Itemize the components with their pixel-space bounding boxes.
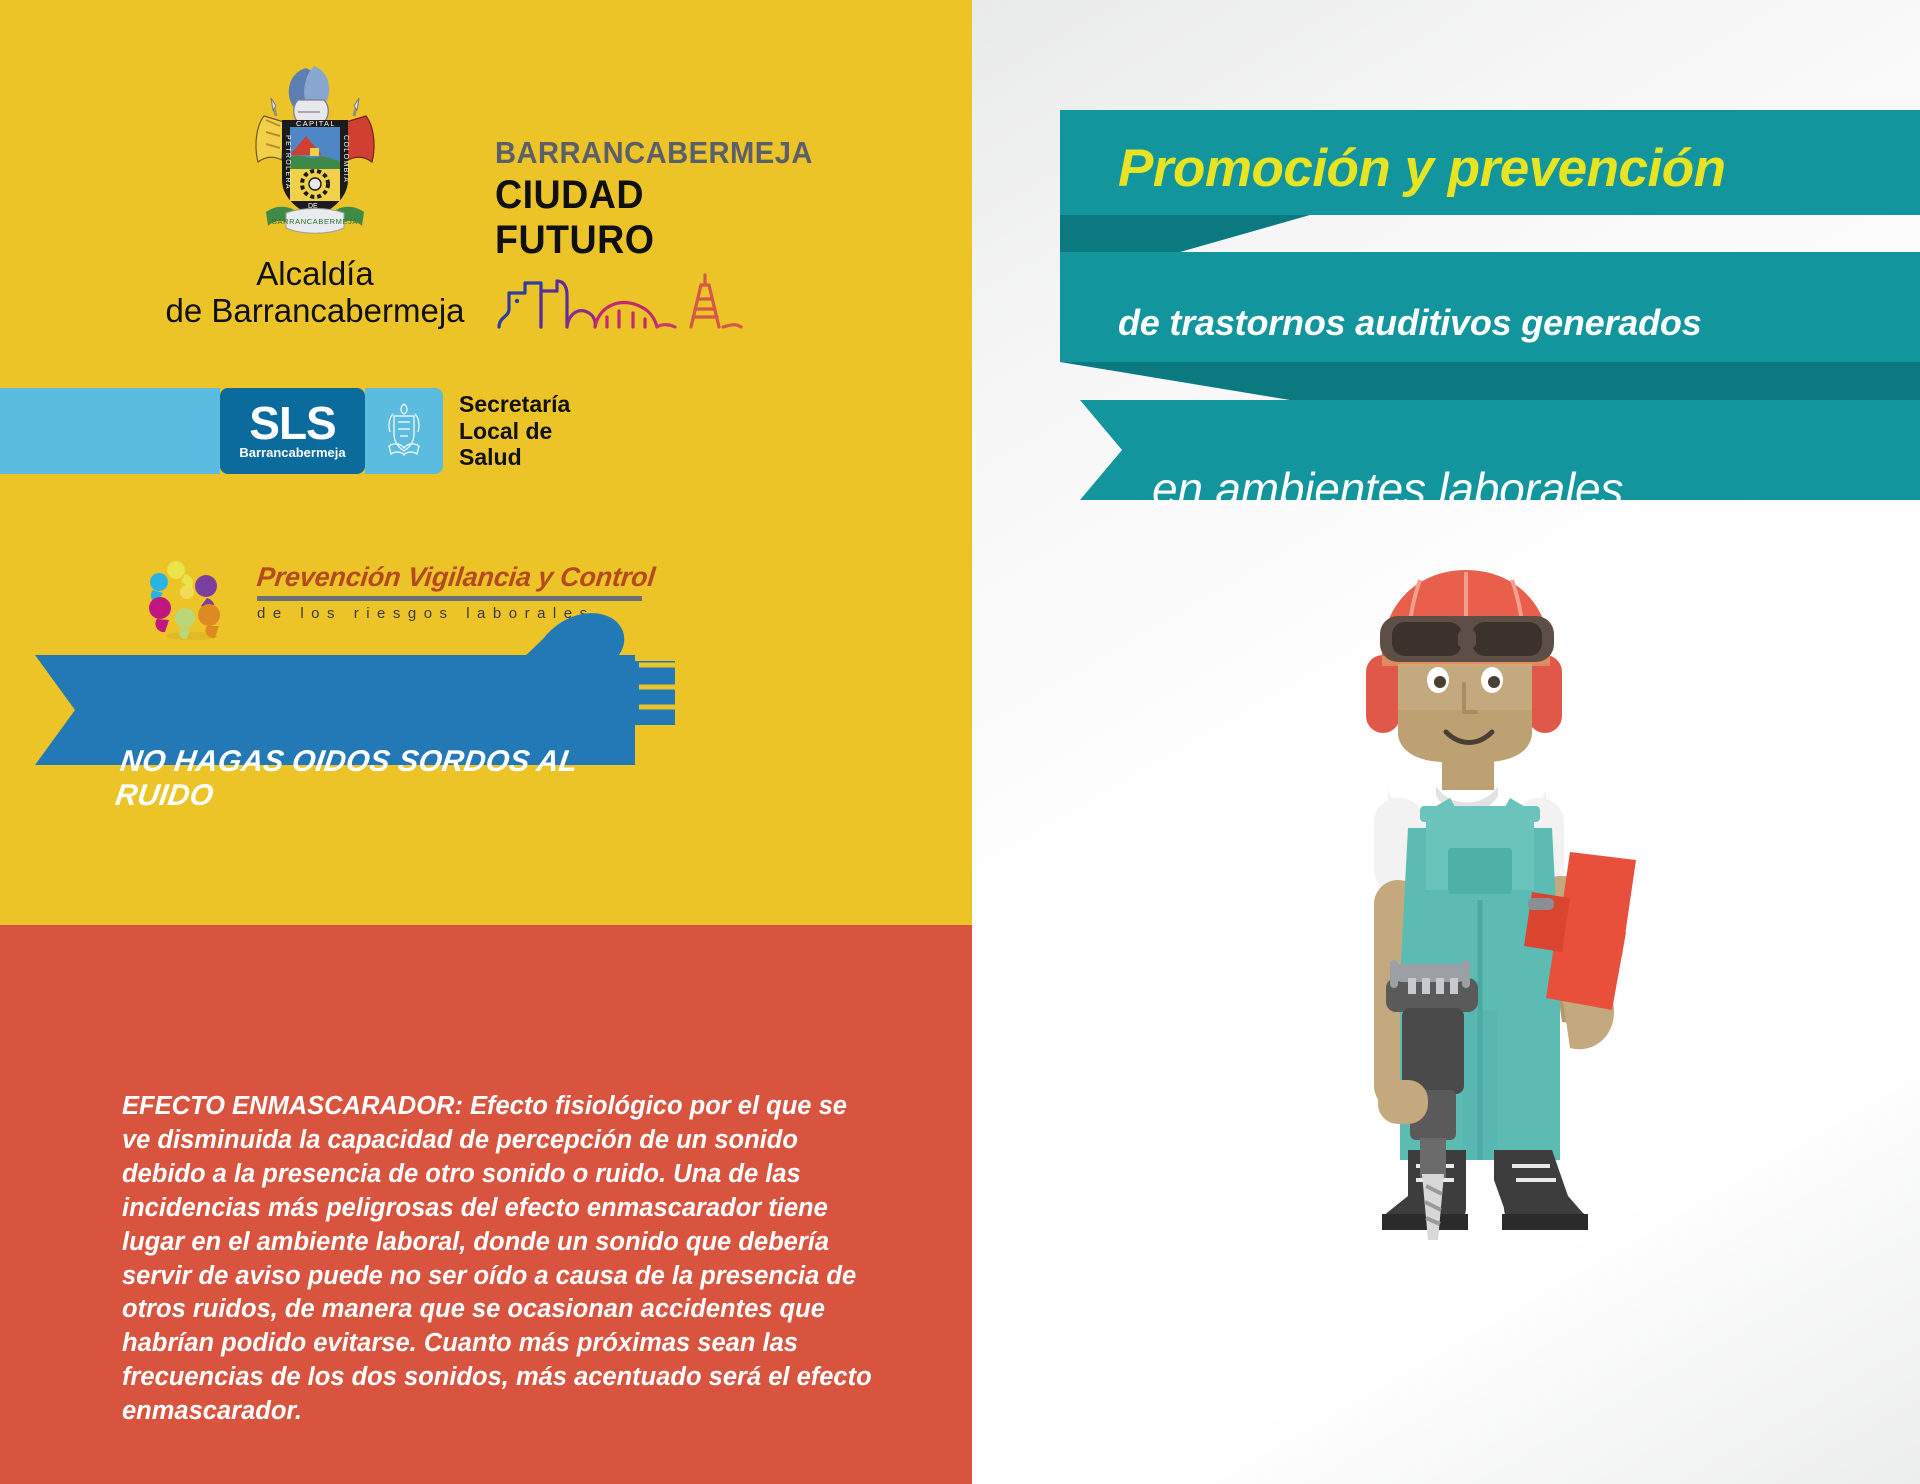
city-skyline-bridge-oil-rig-icon: [495, 273, 795, 338]
alcaldia-label: Alcaldía de Barrancabermeja: [150, 256, 480, 330]
sls-logo: SLS Barrancabermeja Secretaría Local de …: [0, 388, 570, 474]
construction-worker-with-jackhammer-illustration: [1270, 560, 1690, 1300]
efecto-body: Efecto fisiológico por el que se ve dism…: [122, 1092, 872, 1425]
sls-left-bar: [0, 388, 220, 474]
brochure-page: PETROLERA COLOMBIA CAPITAL DE BARRANCABE…: [0, 0, 1920, 1484]
sls-badge: SLS Barrancabermeja: [220, 388, 365, 474]
alcaldia-logo-block: PETROLERA COLOMBIA CAPITAL DE BARRANCABE…: [150, 60, 480, 330]
sls-text-line1: Secretaría: [459, 391, 570, 418]
banner-3-title: en ambientes laborales: [1152, 462, 1623, 516]
svg-text:BARRANCABERMEJA: BARRANCABERMEJA: [272, 217, 358, 226]
svg-text:PETROLERA: PETROLERA: [284, 135, 291, 190]
ruido-banner-label: NO HAGAS OIDOS SORDOS AL RUIDO: [113, 745, 643, 813]
sls-shield-holder: [365, 388, 443, 474]
alcaldia-line2: de Barrancabermeja: [150, 293, 480, 330]
svg-text:COLOMBIA: COLOMBIA: [342, 135, 349, 183]
city-shield-outline-icon: [381, 398, 427, 465]
pvc-title: Prevención Vigilancia y Control: [255, 562, 658, 593]
sls-acronym: SLS: [249, 402, 335, 444]
banner-2-title: de trastornos auditivos generados: [1118, 302, 1702, 344]
svg-text:CAPITAL: CAPITAL: [296, 119, 336, 128]
coat-of-arms-icon: PETROLERA COLOMBIA CAPITAL DE BARRANCABE…: [240, 60, 390, 250]
efecto-heading: EFECTO ENMASCARADOR:: [122, 1092, 463, 1120]
banner-1-title: Promoción y prevención: [1118, 138, 1725, 199]
sls-text-line2: Local de: [459, 418, 570, 445]
alcaldia-line1: Alcaldía: [150, 256, 480, 293]
ciudad-futuro-line1: BARRANCABERMEJA: [495, 135, 777, 171]
sls-subtitle: Barrancabermeja: [239, 445, 345, 460]
sls-text-line3: Salud: [459, 444, 570, 471]
ciudad-futuro-logo: BARRANCABERMEJA CIUDAD FUTURO: [495, 135, 795, 338]
efecto-enmascarador-text: EFECTO ENMASCARADOR: Efecto fisiológico …: [122, 1090, 882, 1429]
ciudad-futuro-line2: CIUDAD FUTURO: [495, 173, 777, 263]
secretaria-local-salud-label: Secretaría Local de Salud: [459, 391, 570, 472]
